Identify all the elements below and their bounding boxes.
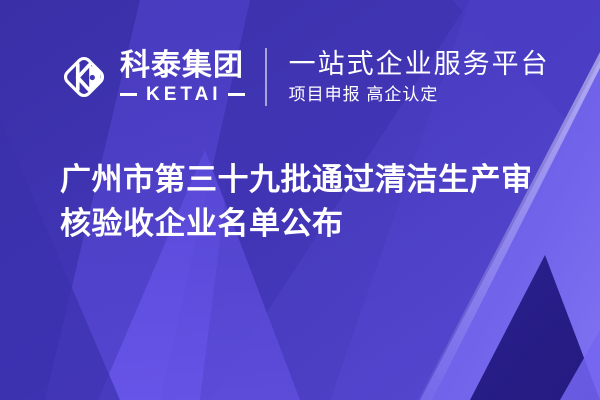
- promo-banner: 科泰集团 KETAI 一站式企业服务平台 项目申报 高企认定 广州市第三十九批通…: [0, 0, 600, 400]
- header-vertical-divider: [265, 48, 267, 106]
- logo-company-name-en: KETAI: [137, 85, 228, 104]
- slogan-secondary: 项目申报 高企认定: [289, 83, 550, 107]
- headline: 广州市第三十九批通过清洁生产审 核验收企业名单公布: [60, 158, 550, 246]
- slogan-primary: 一站式企业服务平台: [289, 48, 550, 81]
- logo-dash-right-icon: [228, 93, 245, 96]
- headline-line-2: 核验收企业名单公布: [60, 202, 550, 246]
- logo-company-name-cn: 科泰集团: [120, 50, 245, 82]
- slogan-block: 一站式企业服务平台 项目申报 高企认定: [289, 48, 550, 107]
- banner-header: 科泰集团 KETAI 一站式企业服务平台 项目申报 高企认定: [58, 44, 550, 110]
- brand-logo[interactable]: 科泰集团 KETAI: [58, 50, 245, 104]
- logo-company-name-en-row: KETAI: [120, 85, 245, 104]
- logo-wordmark: 科泰集团 KETAI: [120, 50, 245, 104]
- logo-dash-left-icon: [120, 93, 137, 96]
- ketai-diamond-kd-monogram-icon: [58, 50, 110, 104]
- headline-line-1: 广州市第三十九批通过清洁生产审: [60, 158, 550, 202]
